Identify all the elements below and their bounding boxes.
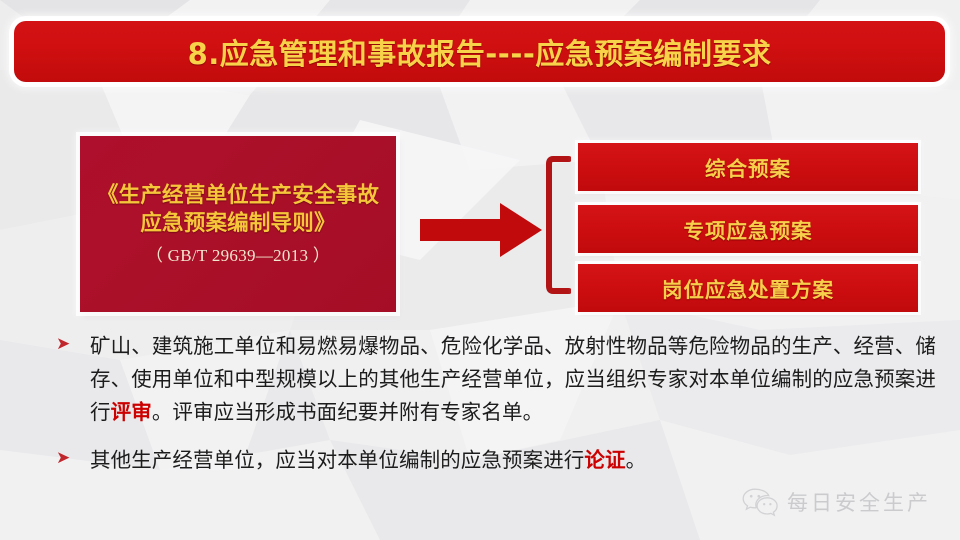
bullet-text: 矿山、建筑施工单位和易燃易爆物品、危险化学品、放射性物品等危险物品的生产、经营、… [90,330,936,430]
plan-box-label: 岗位应急处置方案 [662,273,834,303]
plan-box-onsite: 岗位应急处置方案 [578,264,918,312]
plan-box-comprehensive: 综合预案 [578,143,918,191]
bullet-segment: 。评审应当形成书面纪要并附有专家名单。 [152,400,543,424]
wechat-icon [742,487,778,517]
plan-box-label: 综合预案 [705,152,791,182]
chevron-bullet-icon: ➤ [56,444,90,466]
list-item: ➤ 其他生产经营单位，应当对本单位编制的应急预案进行论证。 [56,444,936,477]
bullet-segment: 其他生产经营单位，应当对本单位编制的应急预案进行 [90,448,584,472]
plan-box-special: 专项应急预案 [578,205,918,253]
bullet-highlight: 论证 [584,448,625,472]
watermark: 每日安全生产 [742,487,931,517]
bullet-segment: 。 [626,448,647,472]
page-title: 8.应急管理和事故报告----应急预案编制要求 [188,31,772,73]
bullet-text: 其他生产经营单位，应当对本单位编制的应急预案进行论证。 [90,444,936,477]
standard-code: （ GB/T 29639—2013 ） [146,241,330,266]
right-arrow-icon [420,203,542,257]
standard-reference-box: 《生产经营单位生产安全事故应急预案编制导则》 （ GB/T 29639—2013… [80,136,396,312]
standard-title: 《生产经营单位生产安全事故应急预案编制导则》 [88,182,388,236]
slide-title-banner: 8.应急管理和事故报告----应急预案编制要求 [14,21,945,82]
list-item: ➤ 矿山、建筑施工单位和易燃易爆物品、危险化学品、放射性物品等危险物品的生产、经… [56,330,936,430]
slide-canvas: 8.应急管理和事故报告----应急预案编制要求 《生产经营单位生产安全事故应急预… [0,0,960,540]
chevron-bullet-icon: ➤ [56,330,90,352]
bullet-highlight: 评审 [111,400,152,424]
watermark-text: 每日安全生产 [787,487,931,517]
left-bracket-icon [545,155,571,295]
body-content: ➤ 矿山、建筑施工单位和易燃易爆物品、危险化学品、放射性物品等危险物品的生产、经… [56,330,936,477]
plan-box-label: 专项应急预案 [684,214,813,244]
